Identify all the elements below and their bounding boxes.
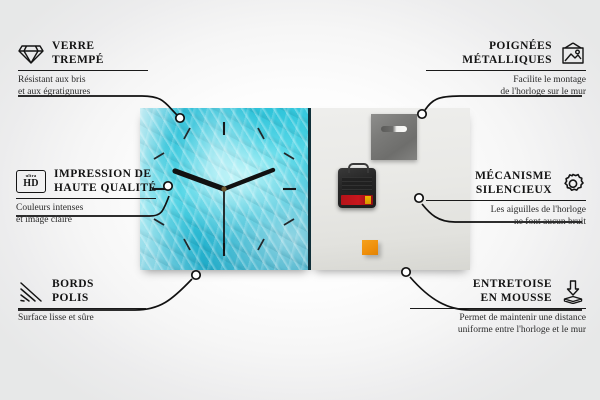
feature-title-line2: POLIS: [52, 292, 94, 306]
feature-rule: [16, 198, 156, 199]
feature-header: VERRE TREMPÉ: [18, 40, 148, 67]
feature-rule: [426, 70, 586, 71]
foam-spacer: [362, 240, 378, 255]
feature-tempered-glass: VERRE TREMPÉ Résistant aux bris et aux é…: [18, 40, 148, 99]
feature-sub-line2: uniforme entre l'horloge et le mur: [410, 325, 586, 337]
product-image: [140, 108, 470, 270]
feature-sub-line2: de l'horloge sur le mur: [426, 87, 586, 99]
diamond-icon: [18, 42, 44, 66]
clock-mechanism: [338, 168, 376, 208]
feature-header: ultra HD IMPRESSION DE HAUTE QUALITÉ: [16, 168, 156, 195]
connector-dot-edges: [192, 271, 200, 279]
metal-hanger-plate: [371, 114, 417, 160]
feature-silent-mechanism: MÉCANISME SILENCIEUX Les aiguilles de l'…: [426, 170, 586, 229]
feature-header: BORDS POLIS: [18, 278, 146, 305]
gear-icon: [560, 172, 586, 196]
feature-title-line1: ENTRETOISE: [473, 278, 552, 292]
feature-header: ENTRETOISE EN MOUSSE: [410, 278, 586, 305]
ultra-hd-icon: ultra HD: [16, 170, 46, 193]
clock-face: [140, 108, 308, 270]
feature-sub-line1: Permet de maintenir une distance: [410, 313, 586, 325]
feature-polished-edges: BORDS POLIS Surface lisse et sûre: [18, 278, 146, 325]
feature-foam-spacer: ENTRETOISE EN MOUSSE Permet de maintenir…: [410, 278, 586, 337]
feature-metal-handles: POIGNÉES MÉTALLIQUES Facilite le montage…: [426, 40, 586, 99]
feature-title-line2: MÉTALLIQUES: [462, 54, 552, 68]
ultra-hd-icon-main-text: HD: [23, 179, 39, 189]
foam-spacer-arrow-icon: [560, 280, 586, 304]
picture-hanging-icon: [560, 42, 586, 66]
infographic-canvas: VERRE TREMPÉ Résistant aux bris et aux é…: [0, 0, 600, 400]
hanger-bail: [348, 163, 369, 173]
feature-title-line1: BORDS: [52, 278, 94, 292]
feature-sub-line1: Facilite le montage: [426, 75, 586, 87]
feature-header: MÉCANISME SILENCIEUX: [426, 170, 586, 197]
battery-label: [341, 195, 373, 205]
feature-high-quality-print: ultra HD IMPRESSION DE HAUTE QUALITÉ Cou…: [16, 168, 156, 227]
feature-title-line1: MÉCANISME: [475, 170, 552, 184]
feature-title-line1: VERRE: [52, 40, 104, 54]
feature-rule: [410, 308, 586, 309]
feature-header: POIGNÉES MÉTALLIQUES: [426, 40, 586, 67]
feature-title-line1: POIGNÉES: [462, 40, 552, 54]
feature-sub-line1: Les aiguilles de l'horloge: [426, 205, 586, 217]
feature-sub-line2: ne font aucun bruit: [426, 217, 586, 229]
mechanism-vents: [342, 177, 372, 191]
feature-sub-line1: Résistant aux bris: [18, 75, 148, 87]
feature-title-line2: SILENCIEUX: [475, 184, 552, 198]
keyhole-slot: [381, 126, 407, 132]
polished-edges-icon: [18, 280, 44, 304]
feature-sub-line1: Surface lisse et sûre: [18, 313, 146, 325]
feature-sub-line2: et image claire: [16, 215, 156, 227]
feature-rule: [18, 308, 146, 309]
feature-sub-line1: Couleurs intenses: [16, 203, 156, 215]
feature-rule: [18, 70, 148, 71]
feature-title-line2: TREMPÉ: [52, 54, 104, 68]
feature-rule: [426, 200, 586, 201]
feature-sub-line2: et aux égratignures: [18, 87, 148, 99]
feature-title-line2: EN MOUSSE: [473, 292, 552, 306]
